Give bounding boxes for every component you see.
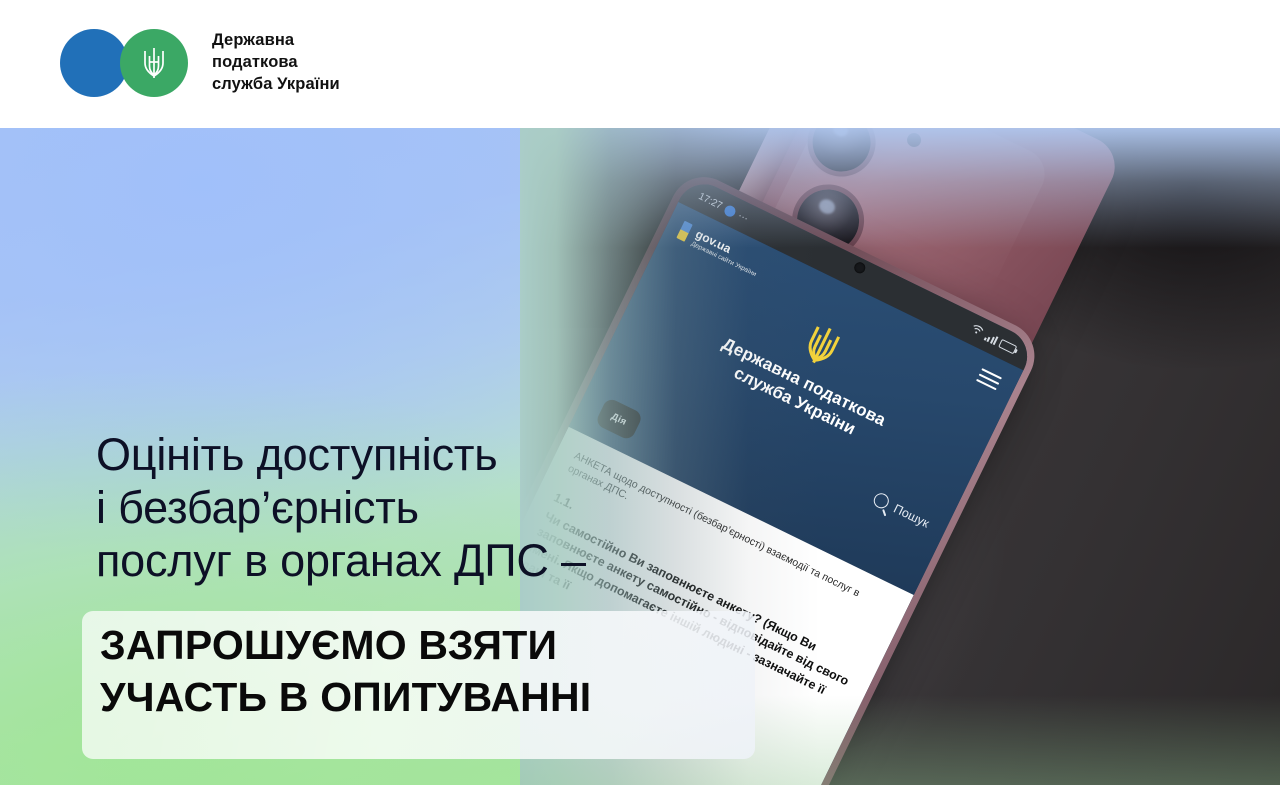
ukraine-trident-icon	[139, 44, 169, 82]
wifi-icon	[968, 323, 984, 339]
status-bar-time: 17:27	[697, 191, 724, 212]
diia-badge[interactable]: Дія	[595, 397, 644, 441]
ukraine-trident-icon	[794, 316, 849, 376]
headline-line-1: Оцініть доступність	[96, 428, 586, 481]
organization-name: Державна податкова служба України	[212, 30, 340, 96]
organization-logo[interactable]: Державна податкова служба України	[60, 29, 340, 97]
ukraine-flag-icon	[676, 221, 692, 242]
org-name-line-3: служба України	[212, 74, 340, 96]
battery-icon	[998, 338, 1017, 354]
signal-bars-icon	[983, 331, 998, 345]
headline-line-2: і безбар’єрність	[96, 481, 586, 534]
hero-canvas: 17:27 ···	[0, 128, 1280, 785]
site-header-bar: Державна податкова служба України	[0, 0, 1280, 128]
survey-callout-text: ЗАПРОШУЄМО ВЗЯТИ УЧАСТЬ В ОПИТУВАННІ	[100, 620, 591, 723]
hero-headline: Оцініть доступність і безбар’єрність пос…	[96, 428, 586, 587]
org-name-line-2: податкова	[212, 52, 340, 74]
org-name-line-1: Державна	[212, 30, 340, 52]
headline-line-3: послуг в органах ДПС –	[96, 534, 586, 587]
hamburger-menu-icon[interactable]	[976, 368, 1002, 390]
search-icon	[872, 491, 892, 511]
callout-line-1: ЗАПРОШУЄМО ВЗЯТИ	[100, 620, 591, 672]
search-button[interactable]: Пошук	[872, 491, 932, 531]
search-label: Пошук	[892, 501, 932, 530]
logo-green-circle-icon	[120, 29, 188, 97]
logo-blue-circle-icon	[60, 29, 128, 97]
callout-line-2: УЧАСТЬ В ОПИТУВАННІ	[100, 672, 591, 724]
more-dots-icon: ···	[736, 210, 750, 224]
tax-service-name-line-2: служба України	[618, 307, 972, 494]
app-notification-icon	[723, 203, 738, 218]
